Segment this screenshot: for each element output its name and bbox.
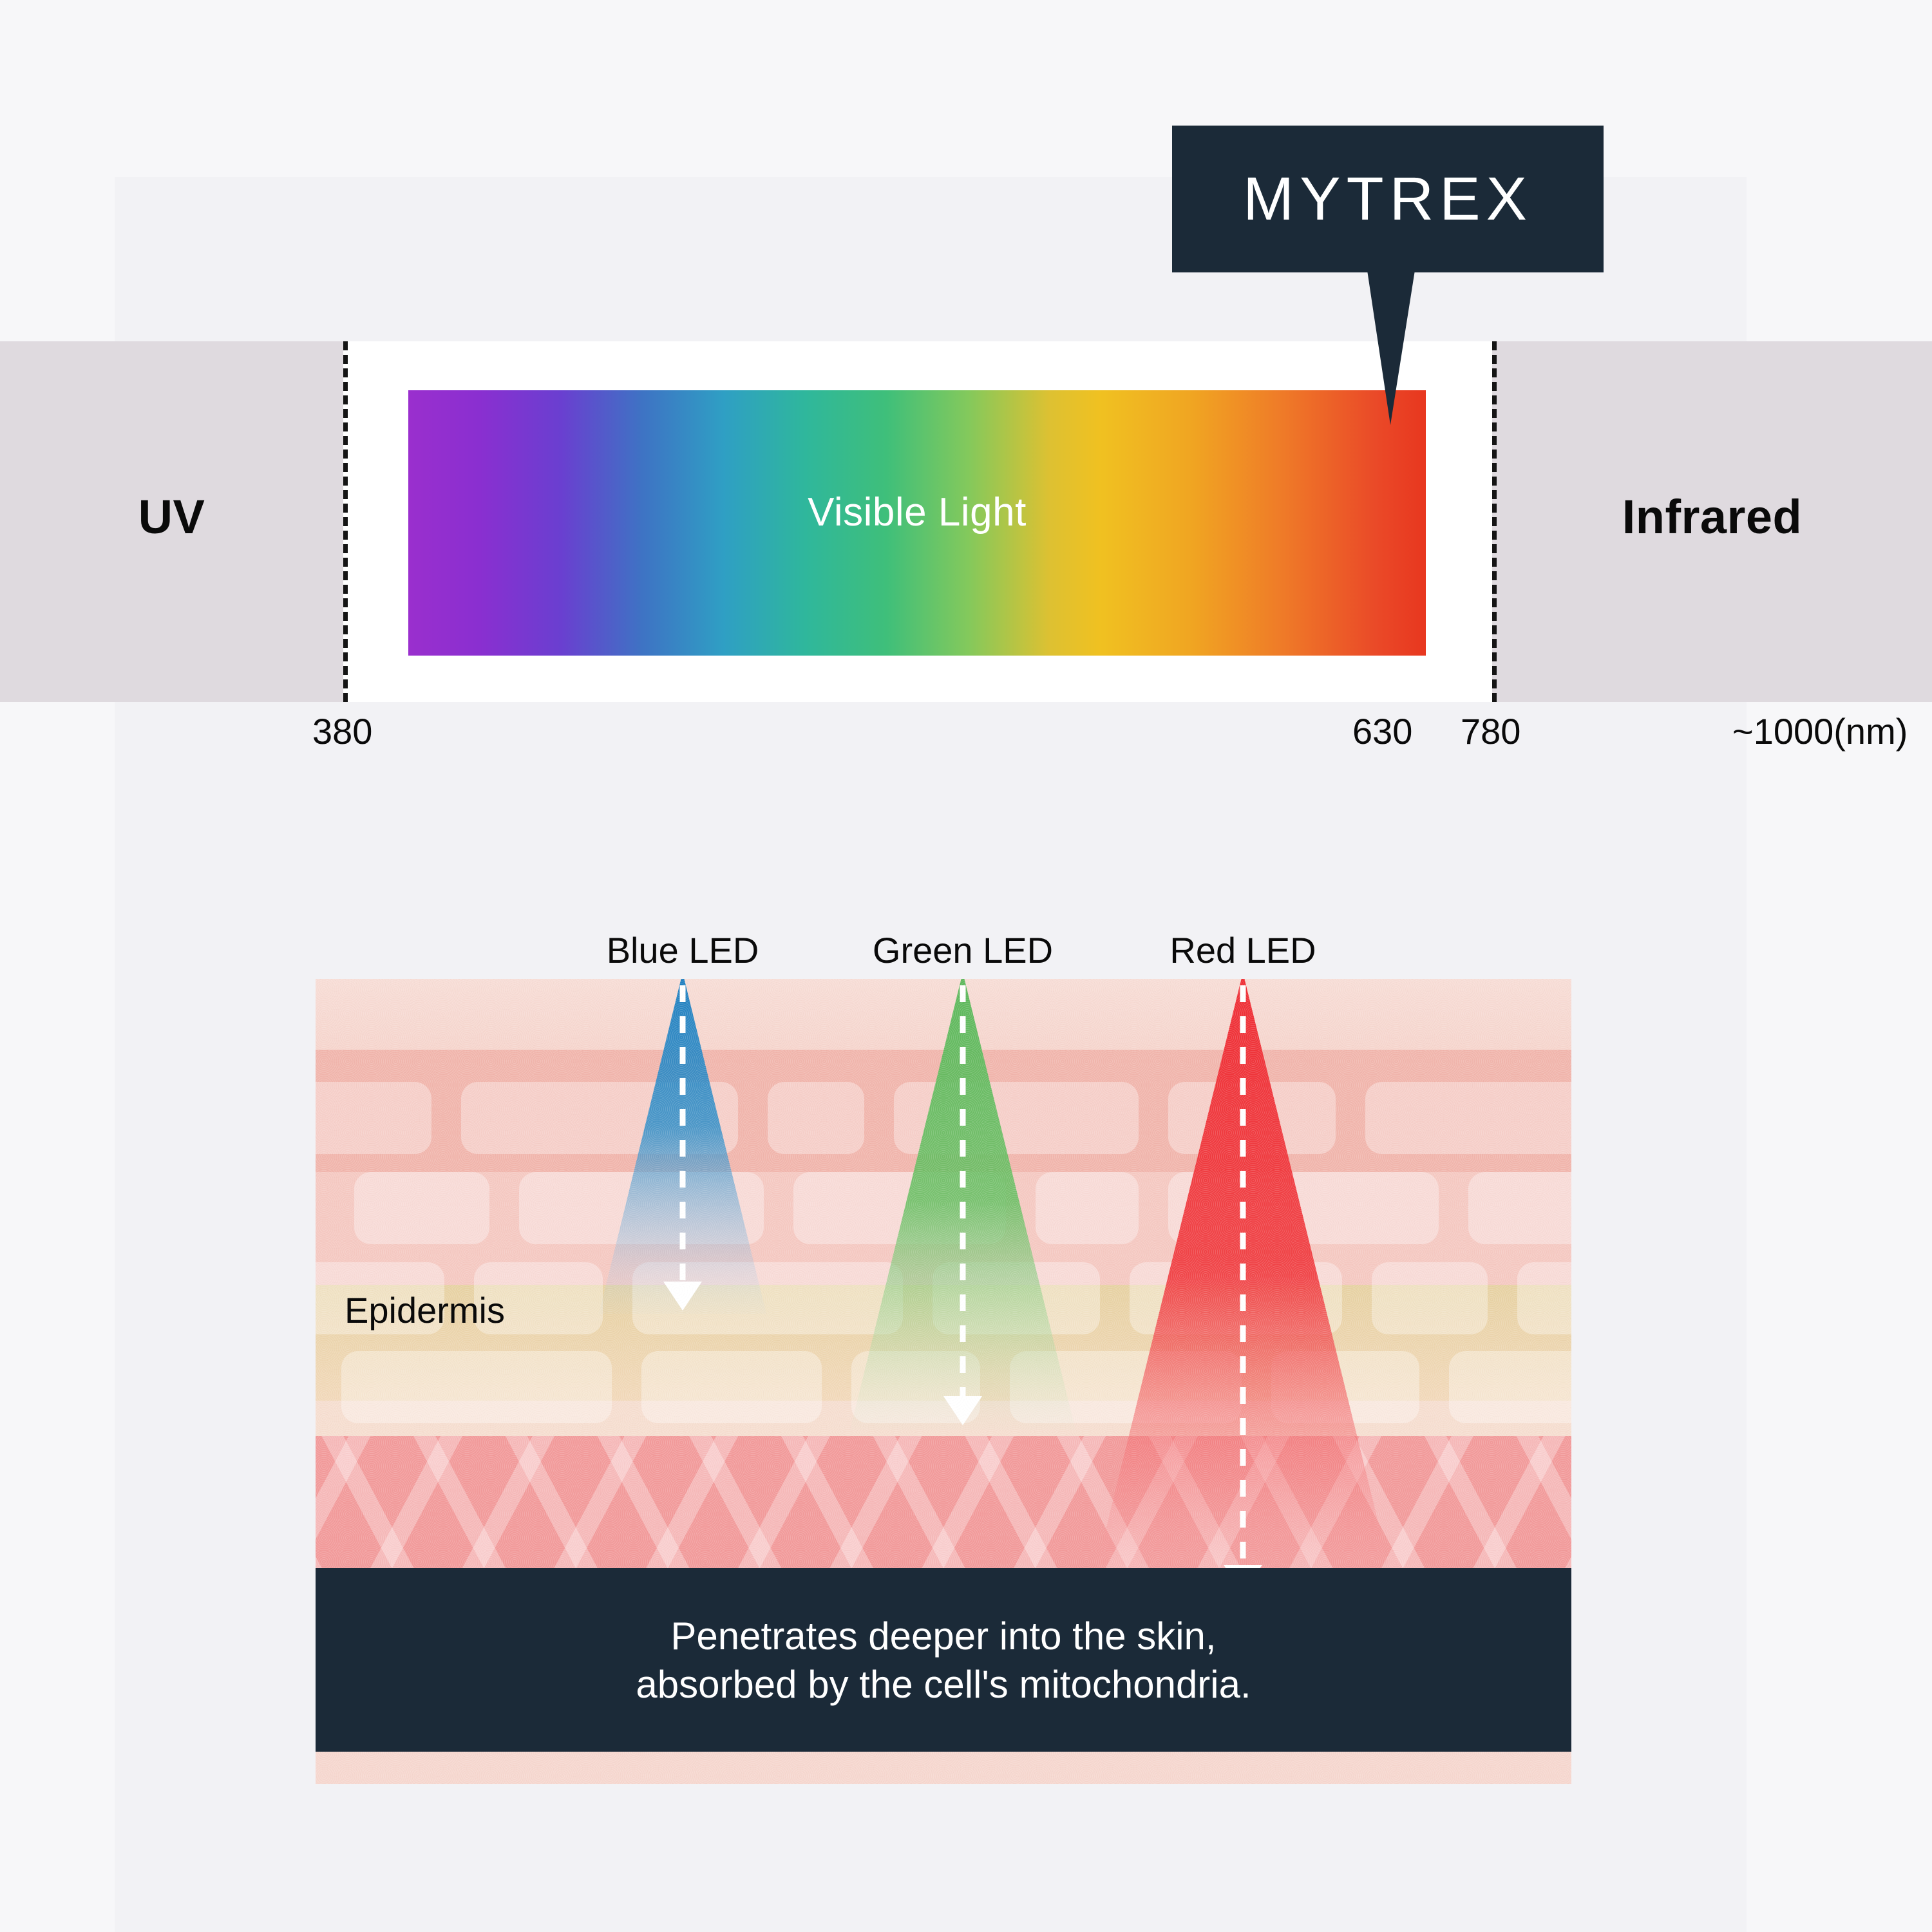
mytrex-callout: MYTREX (1172, 126, 1604, 272)
caption-line-2: absorbed by the cell's mitochondria. (636, 1660, 1251, 1709)
tick-1000: ~1000(nm) (1732, 710, 1908, 752)
uv-label: UV (0, 489, 343, 544)
epidermis-label: Epidermis (345, 1289, 505, 1331)
callout-pointer-icon (1349, 270, 1433, 425)
tick-780: 780 (1461, 710, 1520, 752)
visible-light-label: Visible Light (408, 489, 1426, 535)
boundary-dash-380 (343, 341, 348, 702)
tick-630: 630 (1352, 710, 1412, 752)
caption-line-1: Penetrates deeper into the skin, (670, 1612, 1216, 1660)
led-label-blue: Blue LED (547, 929, 818, 971)
led-label-green: Green LED (828, 929, 1098, 971)
led-label-red: Red LED (1108, 929, 1378, 971)
infrared-label: Infrared (1492, 489, 1932, 544)
caption-box: Penetrates deeper into the skin, absorbe… (316, 1568, 1571, 1752)
mytrex-brand-text: MYTREX (1243, 164, 1533, 234)
infographic-root: Visible Light UV Infrared MYTREX 380 630… (0, 0, 1932, 1932)
tick-380: 380 (312, 710, 372, 752)
